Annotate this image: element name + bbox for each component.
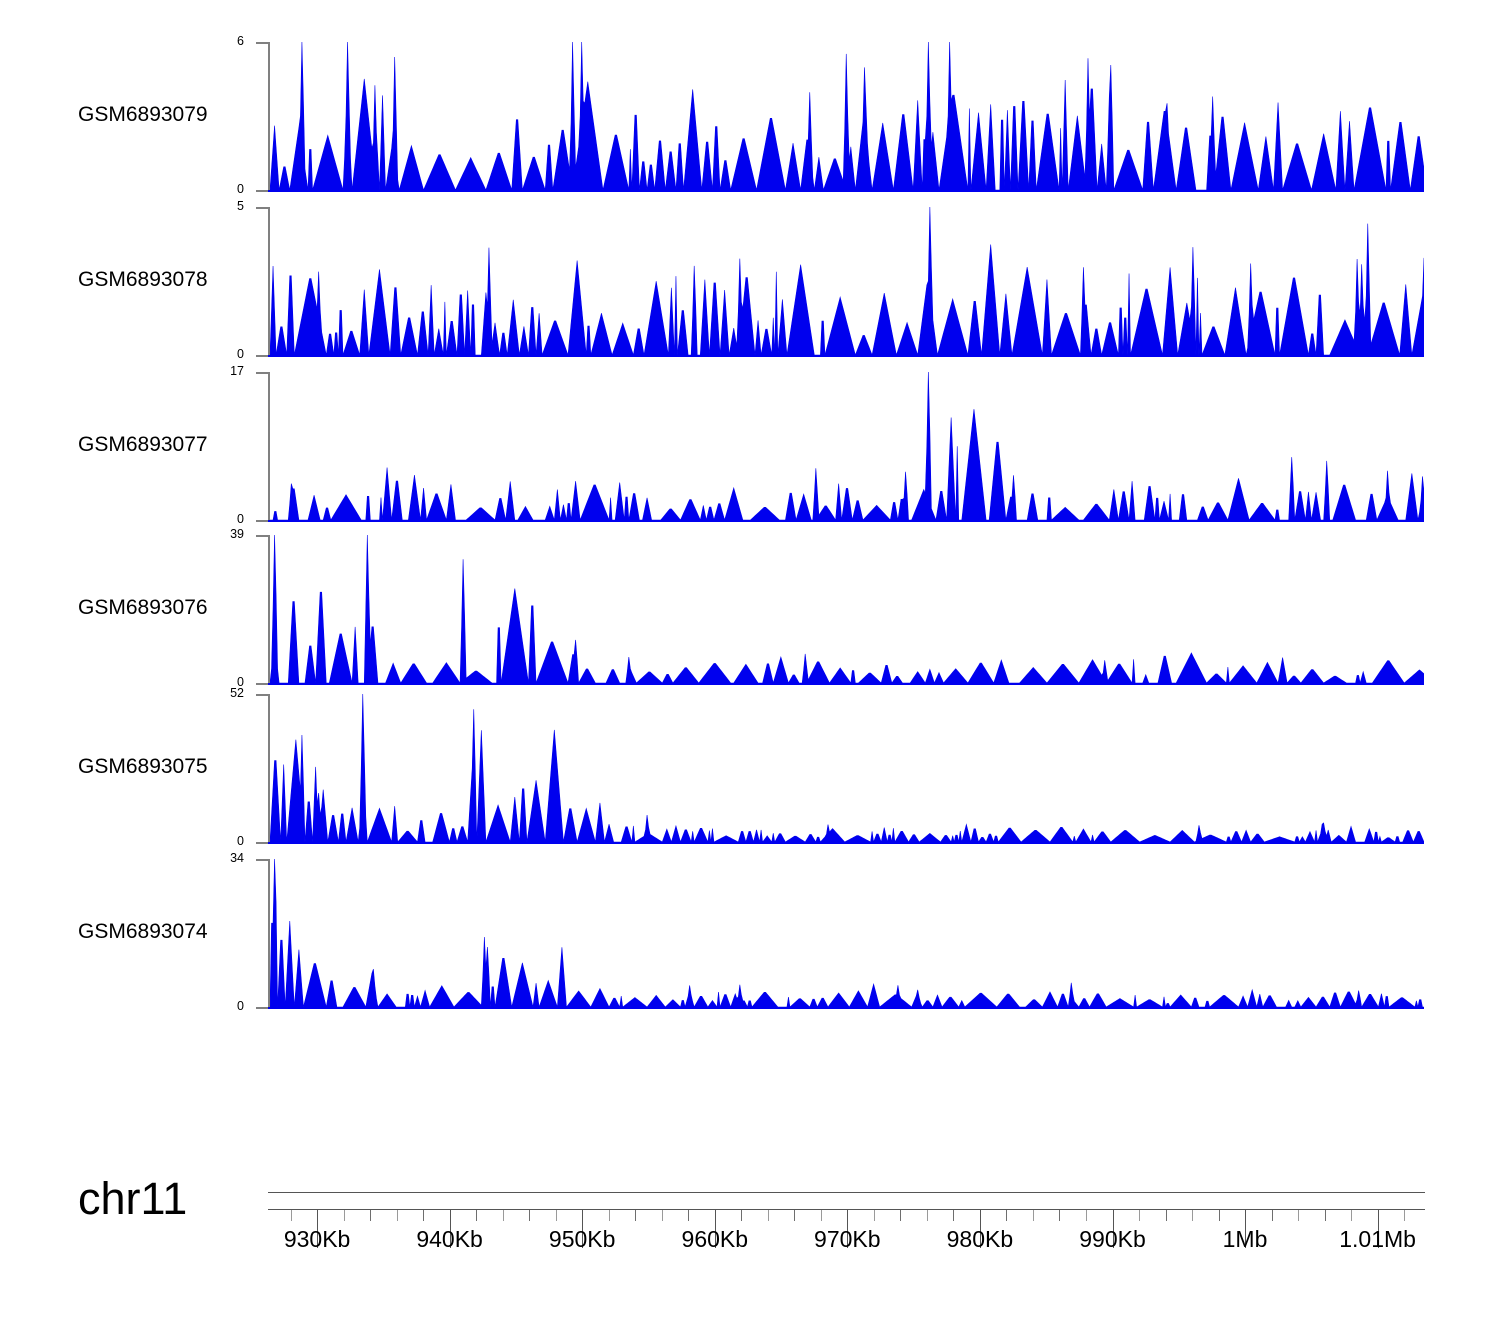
y-axis-max-tick [256, 859, 270, 861]
y-axis-min-label: 0 [192, 182, 244, 196]
ruler-tick-label: 930Kb [284, 1226, 351, 1253]
ruler-minor-tick [1139, 1210, 1140, 1221]
y-axis-min-label: 0 [192, 512, 244, 526]
ruler-tick-label: 940Kb [416, 1226, 483, 1253]
ruler-minor-tick [635, 1210, 636, 1221]
ruler-tick-label: 950Kb [549, 1226, 616, 1253]
ruler-minor-tick [741, 1210, 742, 1221]
ruler-minor-tick [503, 1210, 504, 1221]
ruler-minor-tick [662, 1210, 663, 1221]
ruler-minor-tick [370, 1210, 371, 1221]
ruler-minor-tick [900, 1210, 901, 1221]
ruler-minor-tick [1033, 1210, 1034, 1221]
y-axis-max-tick [256, 694, 270, 696]
y-axis-max-tick [256, 535, 270, 537]
y-axis-max-tick [256, 42, 270, 44]
ruler-tick-label: 980Kb [947, 1226, 1014, 1253]
coverage-baseline [268, 1007, 1424, 1009]
ruler-minor-tick [1166, 1210, 1167, 1221]
ruler-minor-tick [1325, 1210, 1326, 1221]
y-axis-max-label: 39 [192, 527, 244, 541]
genome-ruler: chr11 930Kb940Kb950Kb960Kb970Kb980Kb990K… [0, 1176, 1500, 1286]
coverage-area [270, 694, 1424, 842]
ruler-minor-tick [768, 1210, 769, 1221]
ruler-tick-label: 960Kb [682, 1226, 749, 1253]
ruler-tick-label: 970Kb [814, 1226, 881, 1253]
ruler-minor-tick [476, 1210, 477, 1221]
coverage-baseline [268, 683, 1424, 685]
y-axis-max-label: 6 [192, 34, 244, 48]
ruler-minor-tick [874, 1210, 875, 1221]
track-sample-label: GSM6893079 [78, 103, 264, 127]
ruler-minor-tick [794, 1210, 795, 1221]
ruler-minor-tick [609, 1210, 610, 1221]
coverage-browser: GSM689307960GSM689307850GSM6893077170GSM… [0, 0, 1500, 1320]
track-sample-label: GSM6893076 [78, 596, 264, 620]
y-axis-max-label: 17 [192, 364, 244, 378]
coverage-baseline [268, 190, 1424, 192]
ruler-minor-tick [1298, 1210, 1299, 1221]
ruler-minor-tick [1192, 1210, 1193, 1221]
coverage-area [270, 207, 1424, 355]
ruler-minor-tick [556, 1210, 557, 1221]
ruler-minor-tick [397, 1210, 398, 1221]
ruler-tick-label: 1.01Mb [1339, 1226, 1416, 1253]
ruler-minor-tick [423, 1210, 424, 1221]
ruler-minor-tick [291, 1210, 292, 1221]
ruler-minor-tick [529, 1210, 530, 1221]
coverage-baseline [268, 520, 1424, 522]
y-axis-max-tick [256, 207, 270, 209]
ruler-minor-tick [1351, 1210, 1352, 1221]
coverage-area [270, 859, 1424, 1007]
ruler-minor-tick [344, 1210, 345, 1221]
y-axis-max-tick [256, 372, 270, 374]
y-axis-min-label: 0 [192, 999, 244, 1013]
coverage-area [270, 535, 1424, 683]
chromosome-label: chr11 [78, 1176, 187, 1221]
track-sample-label: GSM6893077 [78, 433, 264, 457]
coverage-area [270, 42, 1424, 190]
y-axis-min-label: 0 [192, 347, 244, 361]
y-axis-max-label: 34 [192, 851, 244, 865]
ruler-minor-tick [927, 1210, 928, 1221]
y-axis-max-label: 52 [192, 686, 244, 700]
track-sample-label: GSM6893075 [78, 755, 264, 779]
ruler-minor-tick [1086, 1210, 1087, 1221]
ruler-minor-tick [1404, 1210, 1405, 1221]
y-axis-min-label: 0 [192, 834, 244, 848]
coverage-baseline [268, 842, 1424, 844]
ruler-tick-label: 990Kb [1079, 1226, 1146, 1253]
ruler-minor-tick [1219, 1210, 1220, 1221]
ruler-top-line [268, 1192, 1425, 1193]
ruler-minor-tick [1272, 1210, 1273, 1221]
ruler-minor-tick [1059, 1210, 1060, 1221]
ruler-minor-tick [821, 1210, 822, 1221]
track-sample-label: GSM6893074 [78, 920, 264, 944]
y-axis-max-label: 5 [192, 199, 244, 213]
ruler-minor-tick [688, 1210, 689, 1221]
ruler-tick-label: 1Mb [1223, 1226, 1268, 1253]
coverage-area [270, 372, 1424, 520]
track-sample-label: GSM6893078 [78, 268, 264, 292]
ruler-minor-tick [953, 1210, 954, 1221]
coverage-baseline [268, 355, 1424, 357]
ruler-minor-tick [1006, 1210, 1007, 1221]
